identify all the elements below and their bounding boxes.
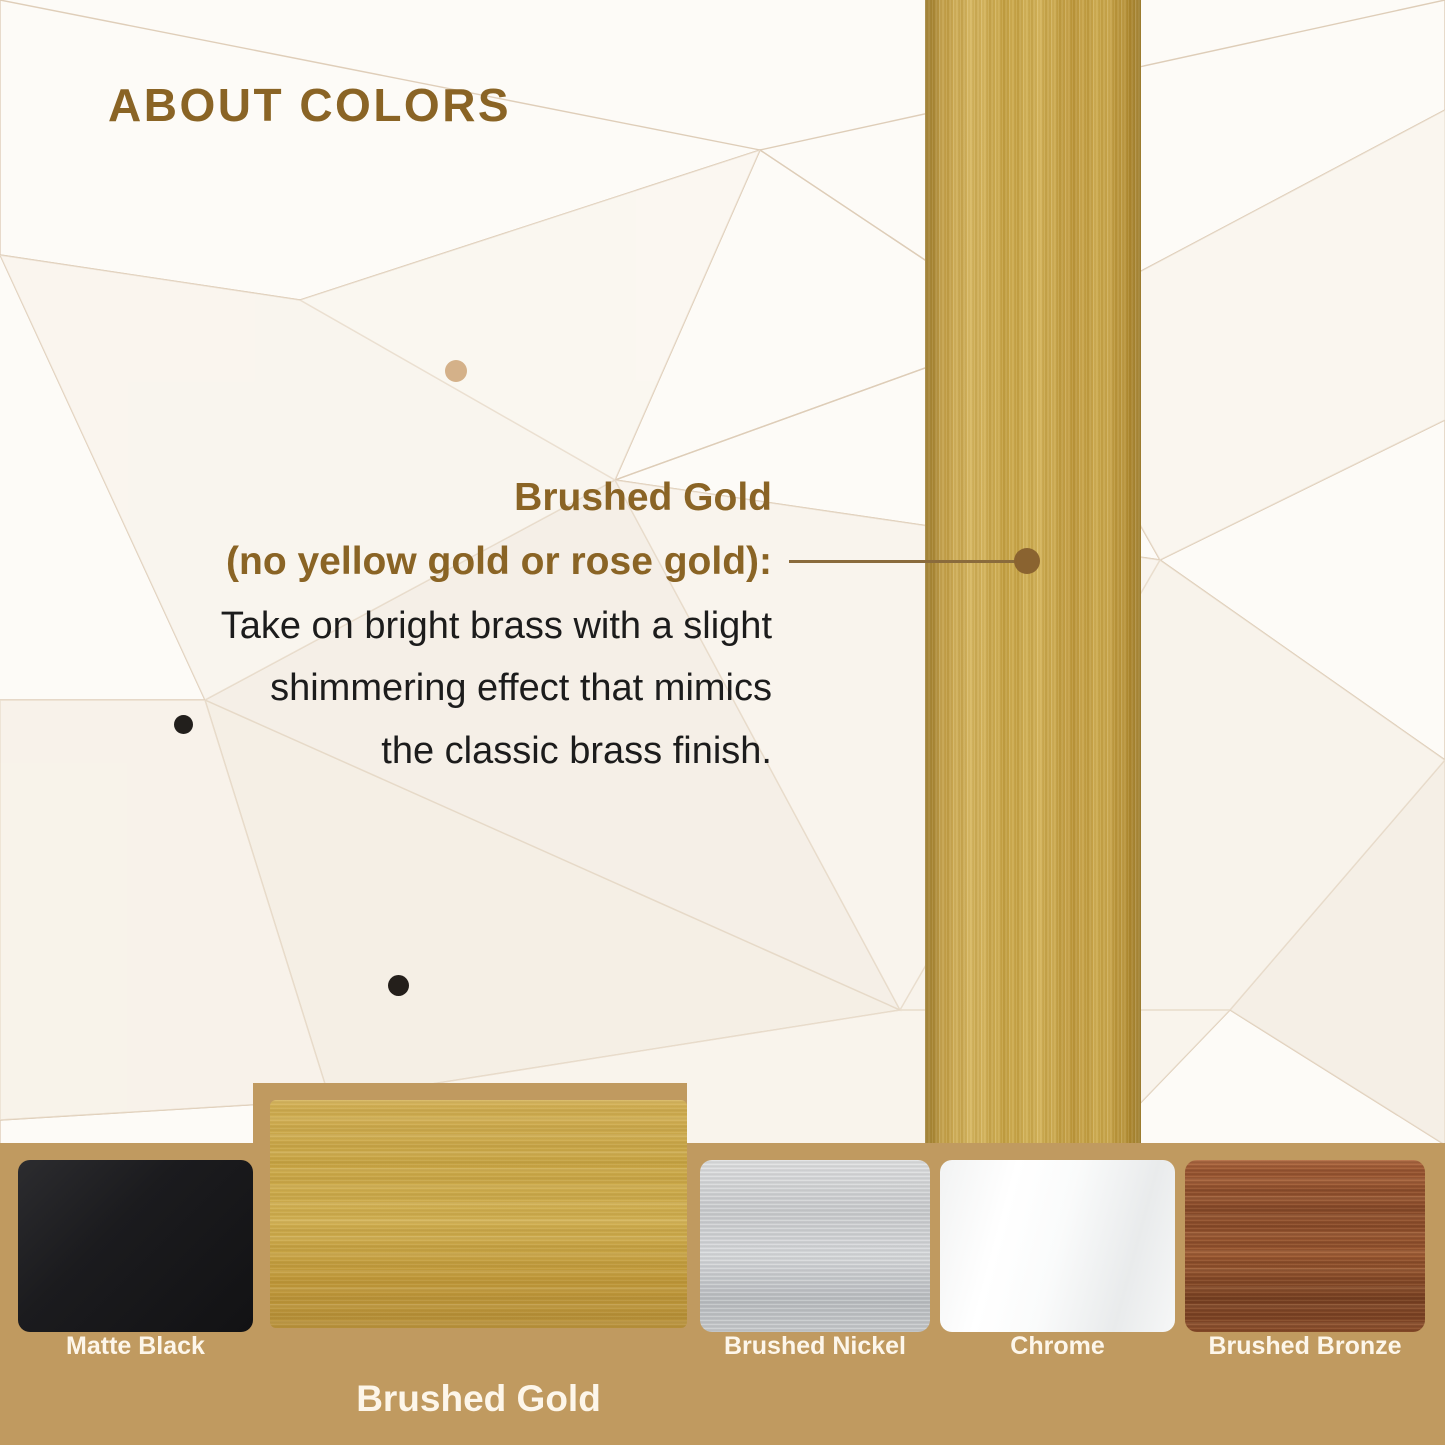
swatch-brushed-nickel[interactable] (700, 1160, 930, 1332)
callout-body-line1: Take on bright brass with a slight (100, 595, 772, 658)
swatch-chrome[interactable] (940, 1160, 1175, 1332)
callout-body-line3: the classic brass finish. (100, 720, 772, 783)
callout-leader-line (789, 560, 1027, 563)
swatch-label-matte-black: Matte Black (18, 1332, 253, 1361)
swatch-label-brushed-bronze: Brushed Bronze (1180, 1332, 1430, 1361)
accent-dot-tan (445, 360, 467, 382)
infographic-canvas: ABOUT COLORS Brushed Gold (no yellow gol… (0, 0, 1445, 1445)
swatch-label-brushed-gold: Brushed Gold (270, 1378, 687, 1420)
page-title: ABOUT COLORS (108, 78, 511, 132)
accent-dot-dark-lower (388, 975, 409, 996)
swatch-matte-black[interactable] (18, 1160, 253, 1332)
callout-heading-line2: (no yellow gold or rose gold): (100, 530, 772, 594)
callout-heading-line1: Brushed Gold (100, 466, 772, 530)
callout-text-block: Brushed Gold (no yellow gold or rose gol… (100, 466, 772, 783)
swatch-brushed-gold[interactable] (270, 1100, 687, 1328)
swatch-label-chrome: Chrome (940, 1332, 1175, 1361)
swatch-label-brushed-nickel: Brushed Nickel (690, 1332, 940, 1361)
swatch-brushed-bronze[interactable] (1185, 1160, 1425, 1332)
callout-body-line2: shimmering effect that mimics (100, 657, 772, 720)
callout-anchor-dot (1014, 548, 1040, 574)
